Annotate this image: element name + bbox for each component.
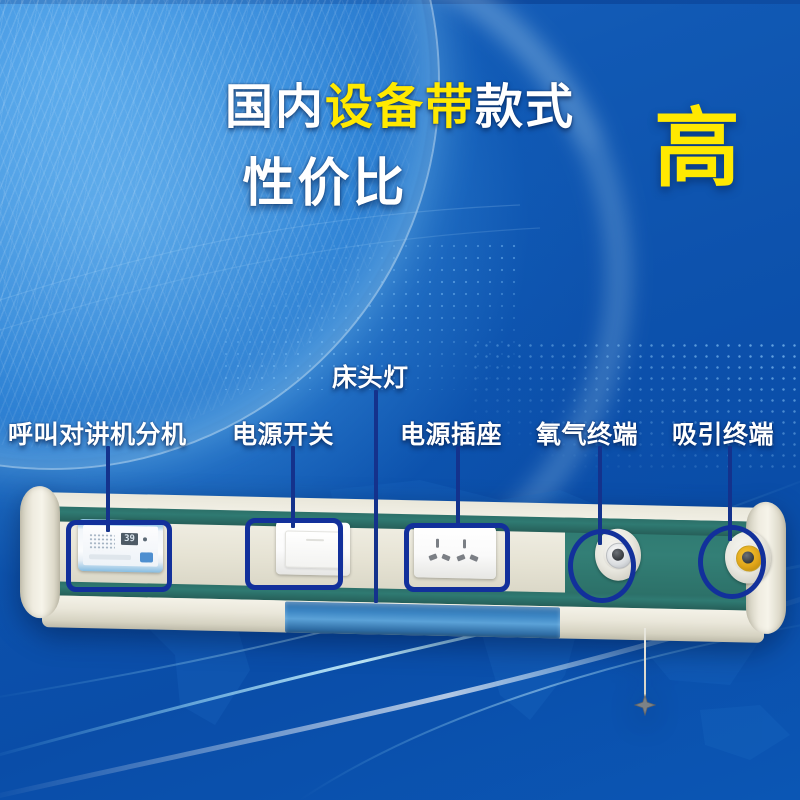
leader-line-socket bbox=[456, 446, 460, 528]
callout-label-suction-terminal: 吸引终端 bbox=[672, 415, 774, 451]
callout-label-call-intercom-extension: 呼叫对讲机分机 bbox=[8, 415, 187, 451]
leader-line-lamp bbox=[374, 390, 378, 603]
promo-banner: 国内设备带款式 性价比 高 呼叫对讲机分机 电源开关 床头灯 电源插座 氧气终端… bbox=[0, 0, 800, 800]
highlight-circle-oxygen-terminal bbox=[568, 529, 636, 603]
highlight-box-power-switch bbox=[245, 518, 343, 590]
highlight-circle-suction-terminal bbox=[698, 525, 766, 599]
leader-line-switch bbox=[291, 446, 295, 528]
highlight-box-power-socket bbox=[404, 523, 510, 592]
callout-label-power-socket: 电源插座 bbox=[400, 415, 502, 451]
callout-layer: 呼叫对讲机分机 电源开关 床头灯 电源插座 氧气终端 吸引终端 bbox=[0, 0, 800, 800]
callout-label-oxygen-terminal: 氧气终端 bbox=[536, 415, 638, 451]
callout-label-power-switch: 电源开关 bbox=[232, 415, 334, 451]
highlight-box-intercom bbox=[66, 520, 172, 592]
callout-label-bed-head-lamp: 床头灯 bbox=[332, 358, 409, 394]
